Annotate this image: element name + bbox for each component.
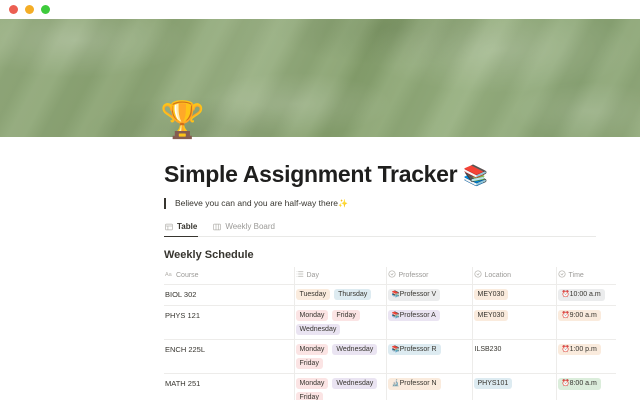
- professor-tag[interactable]: 📚Professor R: [388, 344, 441, 355]
- column-header-time-label: Time: [569, 272, 584, 279]
- day-tag-group: MondayFridayWednesday: [296, 310, 382, 335]
- professor-tag-label: Professor N: [400, 380, 437, 387]
- location-tag-label: PHYS101: [478, 380, 509, 387]
- day-tag[interactable]: Wednesday: [296, 324, 341, 335]
- page-cover-image: [0, 19, 640, 137]
- alarm-clock-emoji: ⏰: [562, 291, 570, 298]
- location-tag-label: MEY030: [478, 312, 505, 319]
- location-tag-label: ILSB230: [475, 346, 502, 353]
- subject-emoji: 🔬: [392, 380, 400, 387]
- course-name: BIOL 302: [165, 289, 290, 299]
- column-header-day[interactable]: Day: [294, 267, 386, 285]
- time-tag[interactable]: ⏰1:00 p.m: [558, 344, 601, 355]
- cell-professor[interactable]: 📚Professor V: [386, 285, 472, 305]
- select-icon: [558, 270, 566, 280]
- cell-day[interactable]: MondayWednesdayFriday: [294, 374, 386, 400]
- course-name: ENCH 225L: [165, 344, 290, 354]
- subject-emoji: 📚: [392, 346, 400, 353]
- tab-table-label: Table: [177, 222, 197, 231]
- time-tag[interactable]: ⏰8:00 a.m: [558, 378, 601, 389]
- page-content: 🏆 Simple Assignment Tracker 📚 Believe yo…: [0, 137, 640, 400]
- select-icon: [474, 270, 482, 280]
- professor-tag-label: Professor R: [400, 346, 437, 353]
- time-tag-label: 1:00 p.m: [570, 346, 597, 353]
- location-tag[interactable]: MEY030: [474, 310, 509, 321]
- tab-table[interactable]: Table: [164, 220, 198, 237]
- day-tag[interactable]: Wednesday: [332, 378, 377, 389]
- day-tag[interactable]: Monday: [296, 310, 329, 321]
- time-tag[interactable]: ⏰10:00 a.m: [558, 289, 605, 300]
- time-tag-label: 10:00 a.m: [570, 291, 601, 298]
- cell-course[interactable]: PHYS 121: [164, 305, 294, 339]
- cell-day[interactable]: MondayFridayWednesday: [294, 305, 386, 339]
- table-header-row: Aa Course: [164, 267, 616, 285]
- day-tag-group: MondayWednesdayFriday: [296, 378, 382, 400]
- table-row[interactable]: MATH 251MondayWednesdayFriday🔬Professor …: [164, 374, 616, 400]
- time-tag[interactable]: ⏰9:00 a.m: [558, 310, 601, 321]
- course-name: MATH 251: [165, 378, 290, 388]
- time-tag-label: 9:00 a.m: [570, 312, 597, 319]
- column-header-course[interactable]: Aa Course: [164, 267, 294, 285]
- day-tag[interactable]: Thursday: [334, 289, 371, 300]
- sparkles-emoji: ✨: [338, 199, 348, 208]
- tab-weekly-board-label: Weekly Board: [225, 222, 275, 231]
- table-icon: [165, 223, 173, 231]
- table-row[interactable]: ENCH 225LMondayWednesdayFriday📚Professor…: [164, 340, 616, 374]
- professor-tag[interactable]: 📚Professor A: [388, 310, 440, 321]
- page-title-text: Simple Assignment Tracker: [164, 161, 463, 187]
- alarm-clock-emoji: ⏰: [562, 346, 570, 353]
- cell-time[interactable]: ⏰10:00 a.m: [556, 285, 616, 305]
- course-name: PHYS 121: [165, 310, 290, 320]
- location-tag[interactable]: MEY030: [474, 289, 509, 300]
- day-tag-group: TuesdayThursday: [296, 289, 382, 300]
- time-tag-label: 8:00 a.m: [570, 380, 597, 387]
- professor-tag[interactable]: 📚Professor V: [388, 289, 441, 300]
- day-tag[interactable]: Monday: [296, 344, 329, 355]
- quote-text: Believe you can and you are half-way the…: [175, 198, 338, 208]
- window-titlebar: [0, 0, 640, 19]
- tab-weekly-board[interactable]: Weekly Board: [212, 220, 276, 237]
- weekly-schedule-table: Aa Course: [164, 267, 616, 400]
- alarm-clock-emoji: ⏰: [562, 380, 570, 387]
- cell-professor[interactable]: 📚Professor R: [386, 340, 472, 374]
- location-tag[interactable]: PHYS101: [474, 378, 513, 389]
- column-header-location-label: Location: [485, 272, 511, 279]
- day-tag-group: MondayWednesdayFriday: [296, 344, 382, 369]
- svg-text:Aa: Aa: [165, 272, 173, 278]
- cell-course[interactable]: MATH 251: [164, 374, 294, 400]
- location-tag[interactable]: ILSB230: [474, 344, 506, 355]
- column-header-location[interactable]: Location: [472, 267, 556, 285]
- cell-day[interactable]: TuesdayThursday: [294, 285, 386, 305]
- select-icon: [388, 270, 396, 280]
- table-row[interactable]: PHYS 121MondayFridayWednesday📚Professor …: [164, 305, 616, 339]
- maximize-window-button[interactable]: [41, 5, 50, 14]
- day-tag[interactable]: Monday: [296, 378, 329, 389]
- cell-location[interactable]: MEY030: [472, 305, 556, 339]
- location-tag-label: MEY030: [478, 291, 505, 298]
- title-text-icon: Aa: [165, 270, 173, 280]
- column-header-professor[interactable]: Professor: [386, 267, 472, 285]
- page-quote-callout: Believe you can and you are half-way the…: [164, 198, 596, 210]
- table-body: BIOL 302TuesdayThursday📚Professor VMEY03…: [164, 285, 616, 400]
- multi-select-icon: [296, 270, 304, 280]
- day-tag[interactable]: Tuesday: [296, 289, 331, 300]
- column-header-course-label: Course: [176, 272, 199, 279]
- professor-tag[interactable]: 🔬Professor N: [388, 378, 441, 389]
- cell-time[interactable]: ⏰8:00 a.m: [556, 374, 616, 400]
- table-title: Weekly Schedule: [164, 249, 596, 261]
- day-tag[interactable]: Friday: [296, 392, 323, 400]
- cell-location[interactable]: ILSB230: [472, 340, 556, 374]
- page-title: Simple Assignment Tracker 📚: [164, 137, 596, 189]
- cell-time[interactable]: ⏰9:00 a.m: [556, 305, 616, 339]
- cell-day[interactable]: MondayWednesdayFriday: [294, 340, 386, 374]
- cell-course[interactable]: BIOL 302: [164, 285, 294, 305]
- column-header-time[interactable]: Time: [556, 267, 616, 285]
- professor-tag-label: Professor V: [400, 291, 437, 298]
- page-icon-trophy-emoji[interactable]: 🏆: [160, 102, 205, 138]
- column-header-day-label: Day: [307, 272, 319, 279]
- app-window: 🏆 Simple Assignment Tracker 📚 Believe yo…: [0, 0, 640, 400]
- cell-professor[interactable]: 🔬Professor N: [386, 374, 472, 400]
- cell-location[interactable]: MEY030: [472, 285, 556, 305]
- minimize-window-button[interactable]: [25, 5, 34, 14]
- cell-location[interactable]: PHYS101: [472, 374, 556, 400]
- view-tabs: Table Weekly Board: [164, 220, 596, 237]
- subject-emoji: 📚: [392, 291, 400, 298]
- day-tag[interactable]: Friday: [296, 358, 323, 369]
- column-header-professor-label: Professor: [399, 272, 429, 279]
- cell-professor[interactable]: 📚Professor A: [386, 305, 472, 339]
- day-tag[interactable]: Friday: [332, 310, 359, 321]
- table-row[interactable]: BIOL 302TuesdayThursday📚Professor VMEY03…: [164, 285, 616, 305]
- professor-tag-label: Professor A: [400, 312, 436, 319]
- cell-time[interactable]: ⏰1:00 p.m: [556, 340, 616, 374]
- day-tag[interactable]: Wednesday: [332, 344, 377, 355]
- alarm-clock-emoji: ⏰: [562, 312, 570, 319]
- books-emoji: 📚: [463, 165, 488, 187]
- cell-course[interactable]: ENCH 225L: [164, 340, 294, 374]
- board-icon: [213, 223, 221, 231]
- subject-emoji: 📚: [392, 312, 400, 319]
- close-window-button[interactable]: [9, 5, 18, 14]
